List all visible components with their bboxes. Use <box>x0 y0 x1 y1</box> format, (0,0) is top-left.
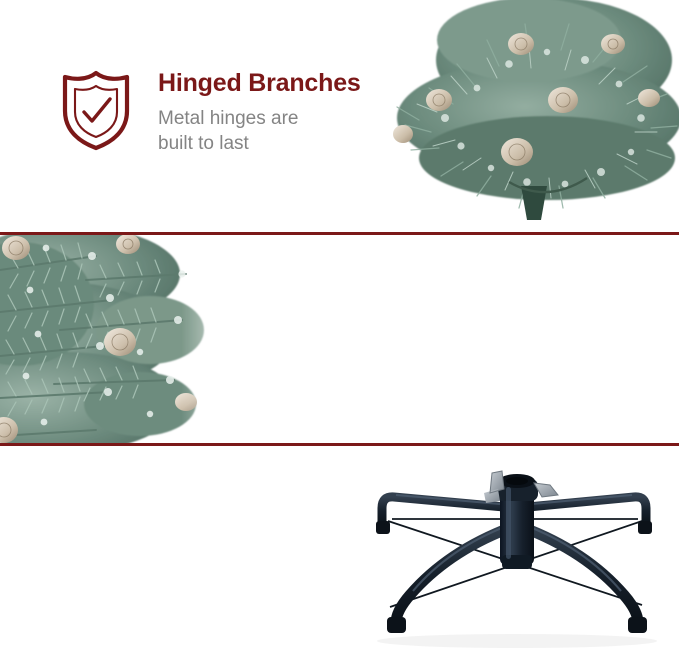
divider-2 <box>0 443 679 446</box>
flocked-christmas-tree-photo <box>379 0 679 230</box>
feature-text-hinged-branches: Hinged Branches Metal hinges are built t… <box>158 70 361 156</box>
panel-subtitle: Metal hinges are built to last <box>158 106 361 156</box>
panel-heading: Hinged Branches <box>158 70 361 98</box>
feature-panel-sturdy-base: Sturdy Base A reliable metal stand for y… <box>0 445 679 666</box>
product-feature-infographic: Hinged Branches Metal hinges are built t… <box>0 0 679 666</box>
feature-panel-hinged-branches: Hinged Branches Metal hinges are built t… <box>0 0 679 234</box>
metal-tree-stand-photo <box>352 455 679 655</box>
flocked-branch-closeup-photo <box>0 234 252 445</box>
divider-1 <box>0 232 679 235</box>
feature-panel-pvc-tips: PVC Tips Flame-retardant and easy to flu… <box>0 234 679 445</box>
shield-check-icon <box>58 68 134 152</box>
